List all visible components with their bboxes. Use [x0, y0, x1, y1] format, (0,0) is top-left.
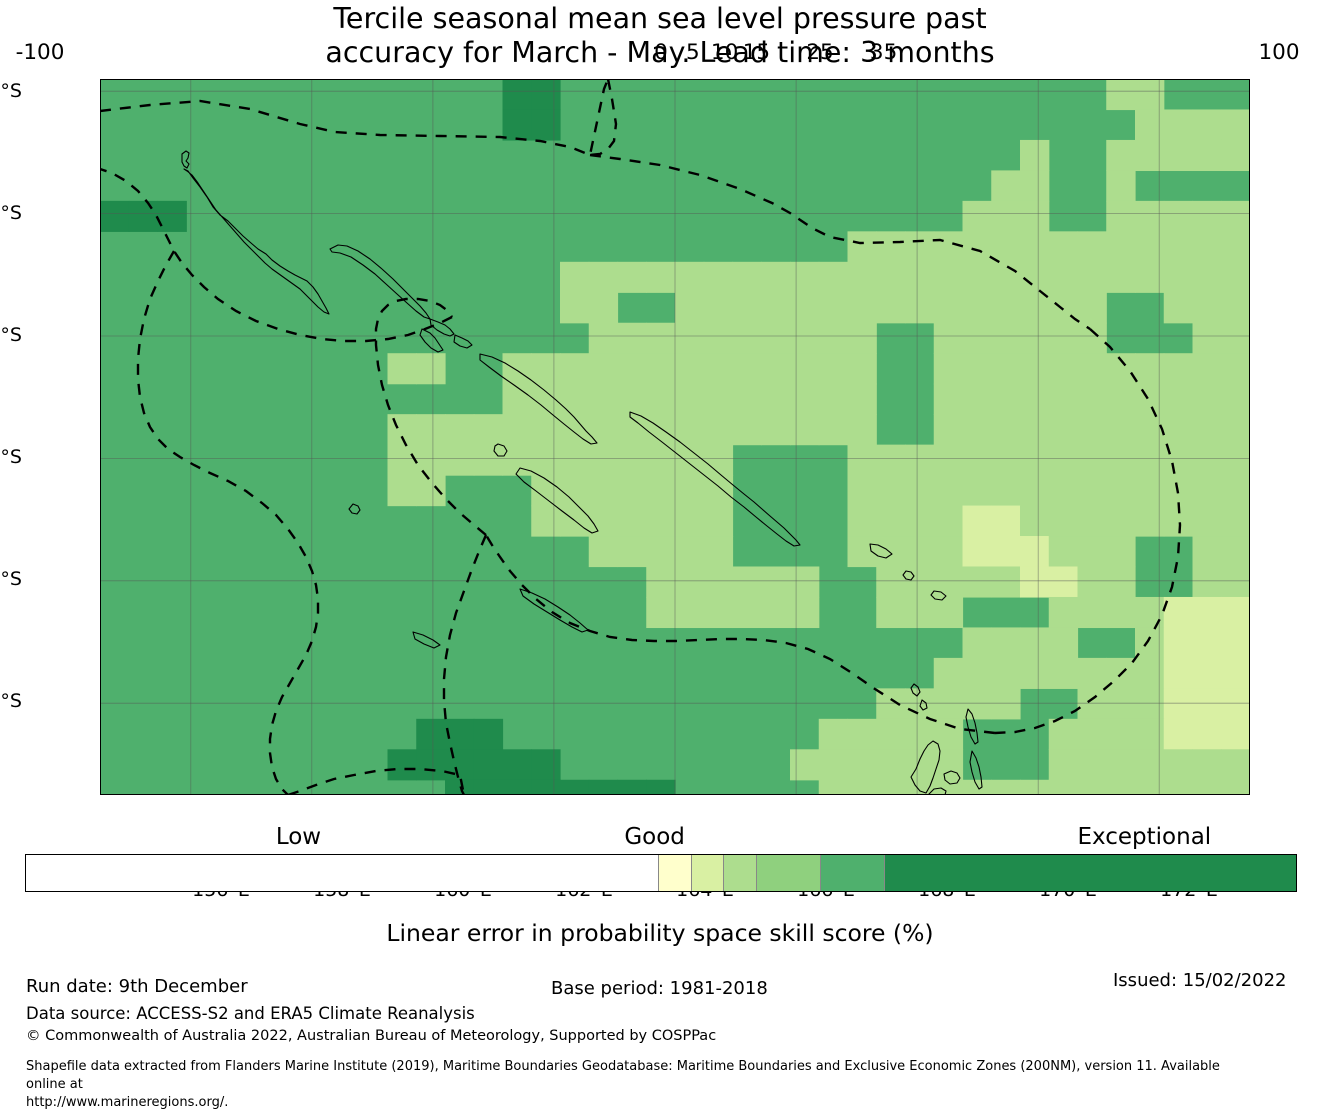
colorbar-category-low: Low [276, 824, 321, 850]
colorbar-tick-label: 35 [870, 40, 897, 65]
map-plot-area[interactable] [100, 79, 1250, 795]
colorbar-tick-label: 25 [806, 40, 833, 65]
colorbar-tick-label: 100 [1258, 40, 1299, 65]
colorbar-tick-label: 0 [654, 40, 668, 65]
colorbar-segment[interactable] [691, 855, 724, 891]
colorbar-segments[interactable] [25, 854, 1297, 892]
colorbar-tick-label: 10 [711, 40, 738, 65]
colorbar-segment[interactable] [658, 855, 691, 891]
colorbar-segment[interactable] [723, 855, 756, 891]
footer-data-source: Data source: ACCESS-S2 and ERA5 Climate … [26, 1004, 475, 1023]
footer-run-date: Run date: 9th December [26, 976, 248, 997]
colorbar-tick-label: 15 [743, 40, 770, 65]
colorbar-segment[interactable] [756, 855, 820, 891]
colorbar-axis-label: Linear error in probability space skill … [0, 919, 1320, 947]
colorbar[interactable] [25, 854, 1297, 892]
footer-shapefile-note: Shapefile data extracted from Flanders M… [26, 1058, 1226, 1112]
colorbar-category-exceptional: Exceptional [1078, 824, 1212, 850]
ytick-label-1: 6°S [0, 202, 22, 224]
eez-boundary-line [100, 79, 1250, 795]
colorbar-segment[interactable] [820, 855, 884, 891]
footer-copyright: © Commonwealth of Australia 2022, Austra… [26, 1028, 716, 1044]
colorbar-segment[interactable] [26, 855, 658, 891]
footer-base-period: Base period: 1981-2018 [551, 978, 768, 999]
footer-issued-date: Issued: 15/02/2022 [1113, 970, 1287, 991]
map-figure: 4°S 6°S 8°S 10°S 12°S 14°S 156°E 158°E 1… [100, 79, 1250, 795]
ytick-label-5: 14°S [0, 690, 22, 712]
ytick-label-2: 8°S [0, 324, 22, 346]
colorbar-category-good: Good [624, 824, 685, 850]
ytick-label-4: 12°S [0, 568, 22, 590]
ytick-label-3: 10°S [0, 446, 22, 468]
colorbar-tick-label: -100 [16, 40, 65, 65]
colorbar-segment[interactable] [884, 855, 1296, 891]
ytick-label-0: 4°S [0, 80, 22, 102]
colorbar-tick-label: 5 [686, 40, 700, 65]
